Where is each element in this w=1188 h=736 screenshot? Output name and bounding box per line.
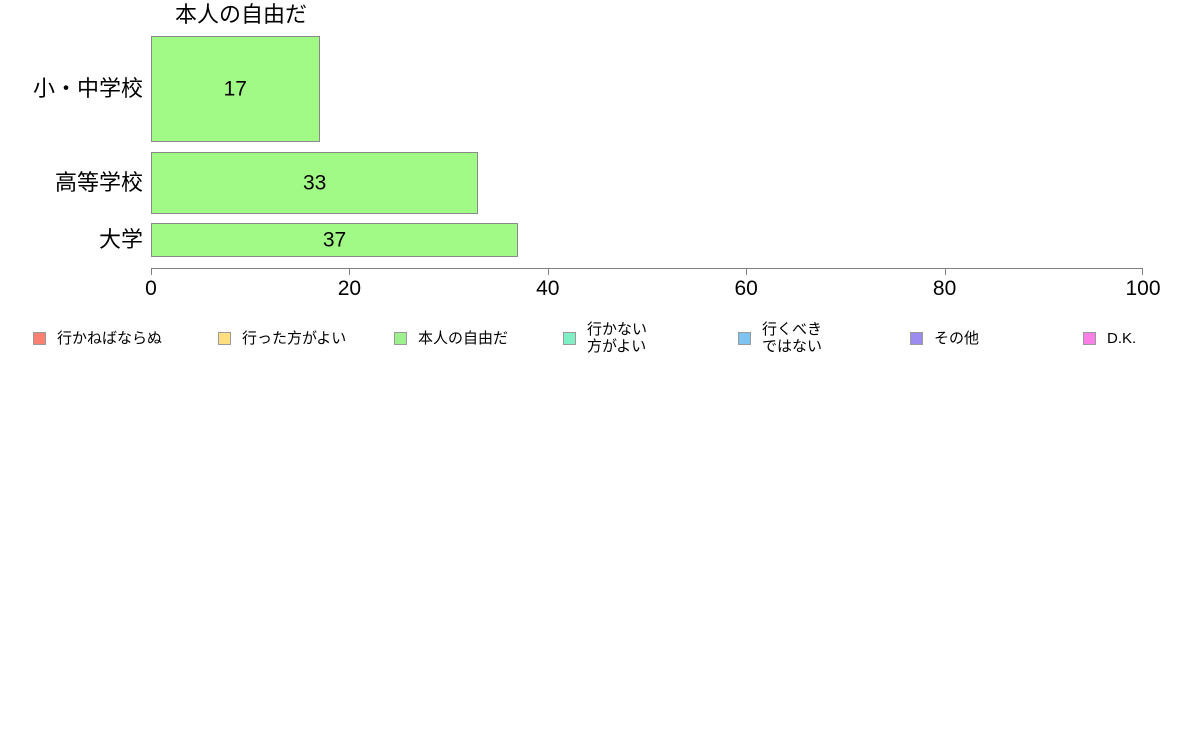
category-label-text: 大学 — [99, 227, 143, 252]
x-axis-tick — [746, 268, 747, 275]
x-axis-tick-label: 40 — [536, 278, 559, 300]
x-axis-tick — [349, 268, 350, 275]
legend-item[interactable]: D.K. — [1083, 316, 1136, 360]
legend-item[interactable]: 行かねばならぬ — [33, 316, 162, 360]
chart-title: 本人の自由だ — [151, 2, 331, 28]
category-label-daigaku: 大学 — [0, 228, 143, 252]
bar-honnin-no-jiyuu-koutougakkou[interactable] — [151, 152, 478, 214]
x-axis-tick — [548, 268, 549, 275]
legend-item-label: 行くべき ではない — [762, 321, 822, 355]
x-axis-tick — [1142, 268, 1143, 275]
bar-honnin-no-jiyuu-daigaku[interactable] — [151, 223, 518, 257]
legend-item-label: D.K. — [1107, 330, 1136, 347]
legend-color-swatch — [910, 332, 923, 345]
x-axis-tick-label: 80 — [933, 278, 956, 300]
x-axis-tick-label: 20 — [338, 278, 361, 300]
legend-color-swatch — [33, 332, 46, 345]
legend-item[interactable]: 行くべき ではない — [738, 316, 822, 360]
x-axis-tick — [945, 268, 946, 275]
x-axis: 020406080100 — [151, 268, 1143, 308]
legend-color-swatch — [563, 332, 576, 345]
x-axis-tick-label: 60 — [735, 278, 758, 300]
legend-item[interactable]: 本人の自由だ — [394, 316, 508, 360]
x-axis-tick — [151, 268, 152, 275]
legend-color-swatch — [1083, 332, 1096, 345]
legend-item[interactable]: その他 — [910, 316, 979, 360]
category-label-shochuugakkou: 小・中学校 — [0, 77, 143, 101]
plot-area: 17 小・中学校 33 高等学校 37 大学 — [151, 34, 1143, 268]
x-axis-tick-label: 0 — [145, 278, 157, 300]
legend-item[interactable]: 行かない 方がよい — [563, 316, 647, 360]
legend-item[interactable]: 行った方がよい — [218, 316, 346, 360]
category-label-text: 高等学校 — [55, 170, 143, 195]
legend-item-label: 行った方がよい — [242, 330, 346, 347]
chart-canvas: 本人の自由だ 17 小・中学校 33 高等学校 37 大学 — [0, 0, 1188, 736]
legend-item-label: 行かねばならぬ — [57, 330, 162, 347]
category-label-text: 小・中学校 — [33, 76, 143, 101]
legend-item-label: その他 — [934, 330, 979, 347]
chart-legend: 行かねばならぬ行った方がよい本人の自由だ行かない 方がよい行くべき ではないその… — [0, 316, 1188, 360]
legend-color-swatch — [394, 332, 407, 345]
x-axis-tick-label: 100 — [1125, 278, 1160, 300]
legend-color-swatch — [738, 332, 751, 345]
legend-item-label: 行かない 方がよい — [587, 321, 647, 355]
bar-honnin-no-jiyuu-shochuugakkou[interactable] — [151, 36, 320, 142]
legend-color-swatch — [218, 332, 231, 345]
category-label-koutougakkou: 高等学校 — [0, 171, 143, 195]
legend-item-label: 本人の自由だ — [418, 330, 508, 347]
x-axis-line — [151, 268, 1143, 269]
